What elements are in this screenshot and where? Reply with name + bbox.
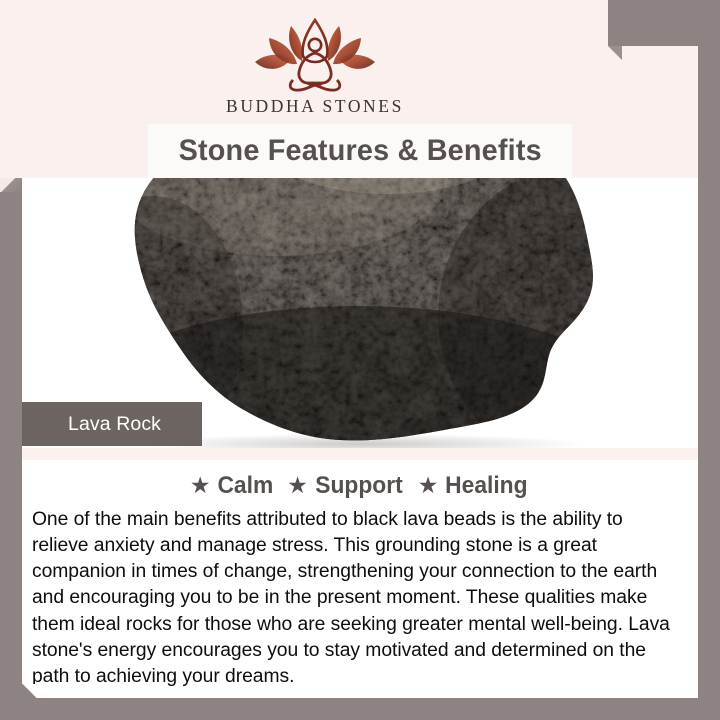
frame-bevel-left-top (0, 178, 22, 192)
section-title-banner: Stone Features & Benefits (148, 124, 572, 178)
feature-badge-healing: ★ Healing (418, 472, 530, 500)
benefits-paragraph: One of the main benefits attributed to b… (30, 506, 680, 689)
star-icon: ★ (418, 474, 439, 497)
frame-bottom (0, 698, 720, 720)
feature-label: Healing (446, 472, 528, 500)
lotus-meditation-figure-icon (249, 18, 381, 92)
divider-strip (22, 448, 698, 460)
page-title: Stone Features & Benefits (178, 134, 541, 168)
frame-left (0, 178, 22, 720)
frame-bevel-bottom-left (22, 684, 40, 698)
star-icon: ★ (287, 474, 308, 497)
stone-name-label: Lava Rock (68, 413, 161, 436)
stone-name-bar: Lava Rock (22, 402, 202, 446)
star-icon: ★ (190, 474, 211, 497)
feature-label: Calm (217, 472, 273, 500)
infographic-page: BUDDHA STONES (0, 0, 720, 720)
brand-logo: BUDDHA STONES (22, 18, 608, 117)
feature-badge-calm: ★ Calm (190, 472, 274, 500)
brand-wordmark: BUDDHA STONES (226, 96, 404, 117)
feature-badge-support: ★ Support (287, 472, 405, 500)
frame-bevel-top-right (608, 46, 622, 60)
feature-badges: ★ Calm ★ Support ★ Healing (30, 470, 690, 502)
description-panel: ★ Calm ★ Support ★ Healing One of the ma… (22, 460, 698, 698)
frame-right (698, 0, 720, 720)
feature-label: Support (315, 472, 402, 500)
